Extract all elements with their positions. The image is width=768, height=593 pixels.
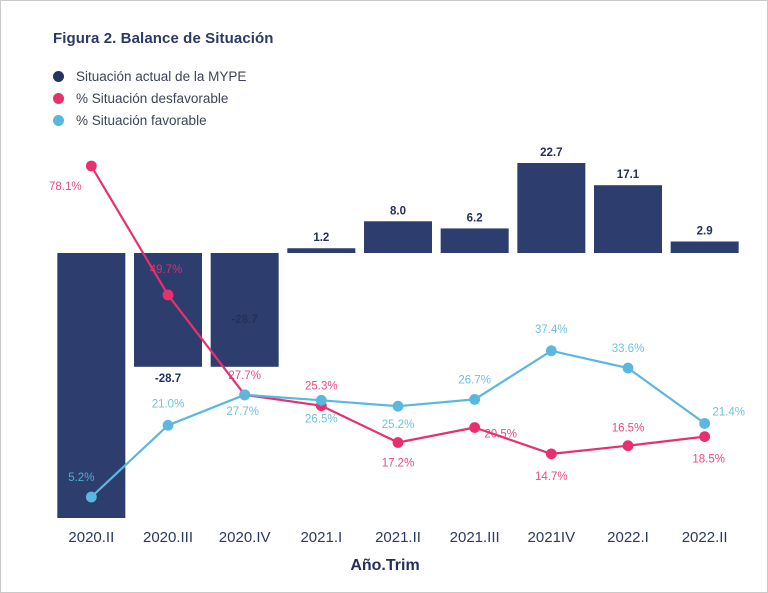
x-axis-tick-label: 2020.III	[143, 529, 193, 546]
data-point-label: 17.2%	[382, 458, 415, 470]
bar	[671, 242, 739, 253]
data-point-label: 16.5%	[612, 423, 645, 435]
data-point-marker	[469, 422, 480, 433]
data-point-label: 21.4%	[712, 406, 745, 418]
data-point-label: 33.6%	[612, 343, 645, 355]
bar-value-label: 17.1	[617, 169, 640, 181]
x-axis-tick-label: 2020.IV	[219, 529, 271, 546]
data-point-label: 21.0%	[152, 398, 185, 410]
x-axis-tick-label: 2021.II	[375, 529, 421, 546]
data-point-marker	[316, 395, 327, 406]
data-point-label: 25.3%	[305, 381, 338, 393]
data-point-marker	[239, 389, 250, 400]
bar	[594, 185, 662, 253]
data-point-label: 37.4%	[535, 324, 568, 336]
data-point-marker	[699, 431, 710, 442]
bar	[287, 248, 355, 253]
bar-value-label: 2.9	[697, 226, 713, 238]
x-axis-tick-label: 2020.II	[68, 529, 114, 546]
bar-value-label: -28.7	[155, 373, 181, 385]
data-point-label: 49.7%	[150, 264, 183, 276]
data-point-label: 26.7%	[458, 374, 491, 386]
bar	[517, 163, 585, 253]
data-point-marker	[623, 440, 634, 451]
bar-value-label: 6.2	[467, 212, 483, 224]
data-point-marker	[699, 418, 710, 429]
data-point-marker	[546, 345, 557, 356]
x-axis-tick-label: 2022.I	[607, 529, 649, 546]
bar-value-label: -28.7	[232, 314, 258, 326]
data-point-marker	[393, 401, 404, 412]
data-point-marker	[469, 394, 480, 405]
x-axis-tick-label: 2021.III	[450, 529, 500, 546]
data-point-marker	[86, 161, 97, 172]
data-point-marker	[86, 492, 97, 503]
data-point-marker	[546, 448, 557, 459]
data-point-marker	[623, 363, 634, 374]
data-point-marker	[163, 290, 174, 301]
data-point-label: 25.2%	[382, 419, 415, 431]
chart-canvas: -28.7-28.71.28.06.222.717.12.978.1%49.7%…	[1, 1, 768, 593]
x-axis-title: Año.Trim	[1, 557, 768, 575]
data-point-marker	[163, 420, 174, 431]
bar-value-label: 1.2	[313, 232, 329, 244]
data-point-label: 27.7%	[226, 406, 259, 418]
figure-container: Figura 2. Balance de Situación Situación…	[0, 0, 768, 593]
plot-area: -28.7-28.71.28.06.222.717.12.978.1%49.7%…	[1, 1, 768, 593]
data-point-label: 14.7%	[535, 471, 568, 483]
data-point-label: 18.5%	[692, 454, 725, 466]
x-axis-tick-label: 2022.II	[682, 529, 728, 546]
data-point-marker	[393, 437, 404, 448]
bar-value-label: 8.0	[390, 205, 406, 217]
bar	[364, 221, 432, 253]
data-point-label: 5.2%	[68, 472, 94, 484]
data-point-label: 20.5%	[484, 429, 517, 441]
bar	[441, 228, 509, 253]
data-point-label: 78.1%	[49, 181, 82, 193]
data-point-label: 27.7%	[228, 370, 261, 382]
bar-value-label: 22.7	[540, 147, 562, 159]
data-point-label: 26.5%	[305, 413, 338, 425]
x-axis-tick-label: 2021IV	[528, 529, 576, 546]
x-axis-tick-label: 2021.I	[300, 529, 342, 546]
bar	[211, 253, 279, 367]
